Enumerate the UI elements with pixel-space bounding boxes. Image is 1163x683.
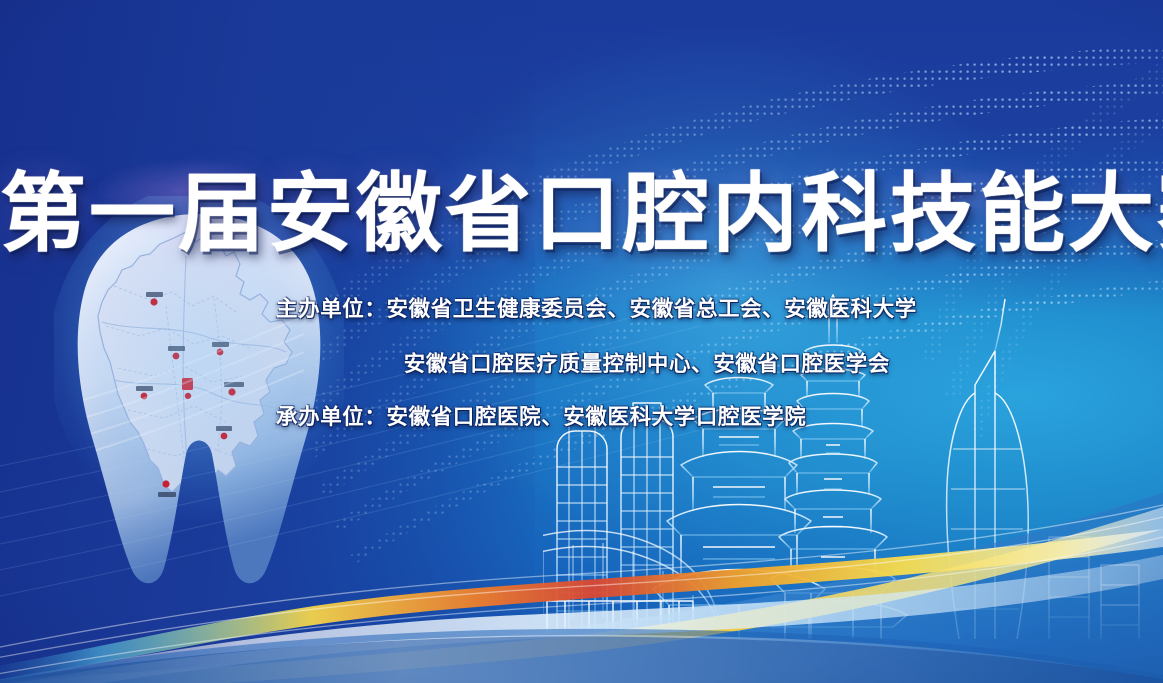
- organizer-block: 主办单位：安徽省卫生健康委员会、安徽省总工会、安徽医科大学 安徽省口腔医疗质量控…: [276, 292, 896, 431]
- host-organizers-line-2: 安徽省口腔医疗质量控制中心、安徽省口腔医学会: [276, 347, 896, 378]
- host-organizers-line-1: 主办单位：安徽省卫生健康委员会、安徽省总工会、安徽医科大学: [276, 292, 896, 323]
- undertaker-organizers-line: 承办单位：安徽省口腔医院、安徽医科大学口腔医学院: [276, 400, 896, 431]
- poster-banner: 第一届安徽省口腔内科技能大赛 主办单位：安徽省卫生健康委员会、安徽省总工会、安徽…: [0, 0, 1163, 683]
- page-title: 第一届安徽省口腔内科技能大赛: [0, 170, 1163, 259]
